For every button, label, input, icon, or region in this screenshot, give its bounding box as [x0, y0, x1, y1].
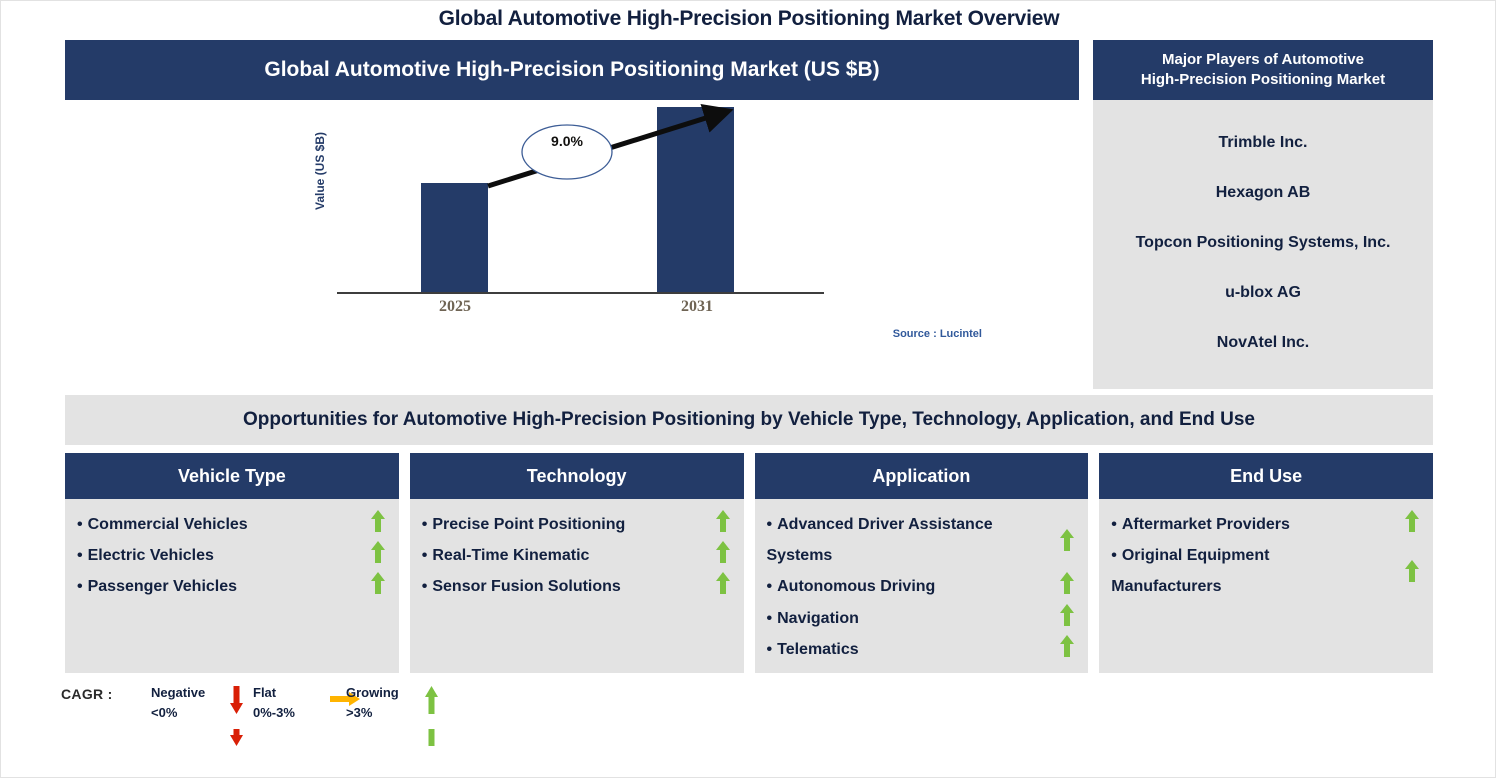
bullet-icon: •	[767, 516, 773, 533]
major-players-header: Major Players of Automotive High-Precisi…	[1093, 40, 1433, 100]
chart-x-axis-line	[337, 292, 824, 294]
arrow-up-icon	[424, 685, 439, 720]
arrow-up-icon	[1056, 634, 1078, 658]
legend-entry-growing: Growing >3%	[346, 683, 399, 722]
segment-item-label: Electric Vehicles	[88, 547, 214, 564]
segment-header: End Use	[1099, 453, 1433, 499]
major-players-list: Trimble Inc. Hexagon AB Topcon Positioni…	[1093, 100, 1433, 389]
legend-range: 0%-3%	[253, 729, 295, 735]
segment-item-label: Original Equipment Manufacturers	[1111, 547, 1269, 595]
segment-item-label: Sensor Fusion Solutions	[432, 578, 620, 595]
list-item: •Real-Time Kinematic	[416, 540, 738, 571]
list-item: Hexagon AB	[1097, 168, 1429, 218]
segment-item-label: Navigation	[777, 610, 859, 627]
segment-item-label: Commercial Vehicles	[88, 516, 248, 533]
chart-plot-area: Value (US $B) 2025 2031 9.0% Source : Lu…	[65, 100, 1079, 389]
chart-xtick-2025: 2025	[407, 298, 503, 316]
legend-label: Growing	[346, 683, 399, 703]
arrow-up-icon	[367, 509, 389, 533]
opportunities-banner: Opportunities for Automotive High-Precis…	[65, 395, 1433, 445]
arrow-up-icon	[712, 540, 734, 564]
legend-range: 0%-3%	[253, 703, 295, 723]
segment-header: Vehicle Type	[65, 453, 399, 499]
page-title: Global Automotive High-Precision Positio…	[1, 7, 1496, 31]
segment-item-list: •Precise Point Positioning •Real-Time Ki…	[410, 499, 744, 673]
legend-range: >3%	[346, 703, 399, 723]
list-item: •Navigation	[761, 603, 1083, 634]
list-item: Trimble Inc.	[1097, 118, 1429, 168]
list-item: •Passenger Vehicles	[71, 571, 393, 602]
bullet-icon: •	[767, 610, 773, 627]
legend-label: Flat	[253, 683, 295, 703]
arrow-up-icon	[1056, 571, 1078, 595]
legend-entry-negative: Negative <0%	[151, 683, 205, 722]
arrow-up-icon	[712, 509, 734, 533]
major-players-header-line1: Major Players of Automotive	[1162, 50, 1364, 70]
cagr-value-label: 9.0%	[522, 133, 612, 149]
legend-range: >3%	[346, 729, 372, 735]
bullet-icon: •	[77, 547, 83, 564]
chart-panel-header: Global Automotive High-Precision Positio…	[65, 40, 1079, 100]
bullet-icon: •	[767, 578, 773, 595]
segment-end-use: End Use •Aftermarket Providers •Original…	[1099, 453, 1433, 673]
major-players-header-line2: High-Precision Positioning Market	[1141, 70, 1385, 90]
chart-bar-2031	[657, 107, 734, 292]
segment-item-label: Telematics	[777, 641, 859, 658]
segment-item-label: Autonomous Driving	[777, 578, 935, 595]
segment-item-list: •Aftermarket Providers •Original Equipme…	[1099, 499, 1433, 673]
arrow-up-icon	[1056, 603, 1078, 627]
market-chart-panel: Global Automotive High-Precision Positio…	[65, 40, 1079, 389]
bullet-icon: •	[422, 578, 428, 595]
list-item: Topcon Positioning Systems, Inc.	[1097, 218, 1429, 268]
arrow-down-icon	[229, 685, 244, 720]
chart-source-note: Source : Lucintel	[893, 328, 982, 340]
infographic-page: Global Automotive High-Precision Positio…	[0, 0, 1496, 778]
arrow-up-icon	[367, 540, 389, 564]
legend-entry-flat-ghost: 0%-3%	[253, 729, 295, 735]
legend-range: <0%	[151, 729, 177, 735]
arrow-up-icon	[1401, 509, 1423, 533]
legend-label: Negative	[151, 683, 205, 703]
bullet-icon: •	[1111, 547, 1117, 564]
segment-header: Technology	[410, 453, 744, 499]
segment-columns: Vehicle Type •Commercial Vehicles •Elect…	[65, 453, 1433, 673]
legend-entry-growing-ghost: >3%	[346, 729, 372, 735]
bullet-icon: •	[422, 547, 428, 564]
list-item: •Aftermarket Providers	[1105, 509, 1427, 540]
chart-xtick-2031: 2031	[649, 298, 745, 316]
list-item: •Advanced Driver Assistance Systems	[761, 509, 1083, 571]
cagr-legend-ghost-row: <0% 0%-3% >3%	[61, 729, 481, 751]
list-item: •Precise Point Positioning	[416, 509, 738, 540]
arrow-up-icon	[1056, 528, 1078, 552]
legend-entry-flat: Flat 0%-3%	[253, 683, 295, 722]
segment-technology: Technology •Precise Point Positioning •R…	[410, 453, 744, 673]
segment-item-label: Real-Time Kinematic	[432, 547, 589, 564]
list-item: •Electric Vehicles	[71, 540, 393, 571]
segment-item-label: Aftermarket Providers	[1122, 516, 1290, 533]
legend-range: <0%	[151, 703, 205, 723]
list-item: •Telematics	[761, 634, 1083, 665]
list-item: •Original Equipment Manufacturers	[1105, 540, 1427, 602]
cagr-legend-title: CAGR :	[61, 686, 113, 702]
segment-item-label: Advanced Driver Assistance Systems	[767, 516, 993, 564]
segment-item-label: Passenger Vehicles	[88, 578, 237, 595]
major-players-panel: Major Players of Automotive High-Precisi…	[1093, 40, 1433, 389]
arrow-up-icon	[367, 571, 389, 595]
list-item: u-blox AG	[1097, 268, 1429, 318]
bullet-icon: •	[1111, 516, 1117, 533]
chart-bar-2025	[421, 183, 488, 292]
segment-item-label: Precise Point Positioning	[432, 516, 625, 533]
cagr-legend: CAGR : Negative <0% Flat 0%-3% Growing >…	[61, 683, 481, 735]
arrow-down-icon-ghost	[229, 729, 244, 751]
bullet-icon: •	[77, 578, 83, 595]
segment-item-list: •Advanced Driver Assistance Systems •Aut…	[755, 499, 1089, 673]
segment-vehicle-type: Vehicle Type •Commercial Vehicles •Elect…	[65, 453, 399, 673]
list-item: •Sensor Fusion Solutions	[416, 571, 738, 602]
list-item: NovAtel Inc.	[1097, 318, 1429, 368]
arrow-up-icon-ghost	[424, 729, 439, 751]
legend-entry-negative-ghost: <0%	[151, 729, 177, 735]
chart-y-axis-label: Value (US $B)	[313, 132, 327, 210]
bullet-icon: •	[422, 516, 428, 533]
bullet-icon: •	[767, 641, 773, 658]
arrow-up-icon	[712, 571, 734, 595]
segment-item-list: •Commercial Vehicles •Electric Vehicles …	[65, 499, 399, 673]
segment-header: Application	[755, 453, 1089, 499]
arrow-up-icon	[1401, 559, 1423, 583]
list-item: •Commercial Vehicles	[71, 509, 393, 540]
list-item: •Autonomous Driving	[761, 571, 1083, 602]
segment-application: Application •Advanced Driver Assistance …	[755, 453, 1089, 673]
bullet-icon: •	[77, 516, 83, 533]
